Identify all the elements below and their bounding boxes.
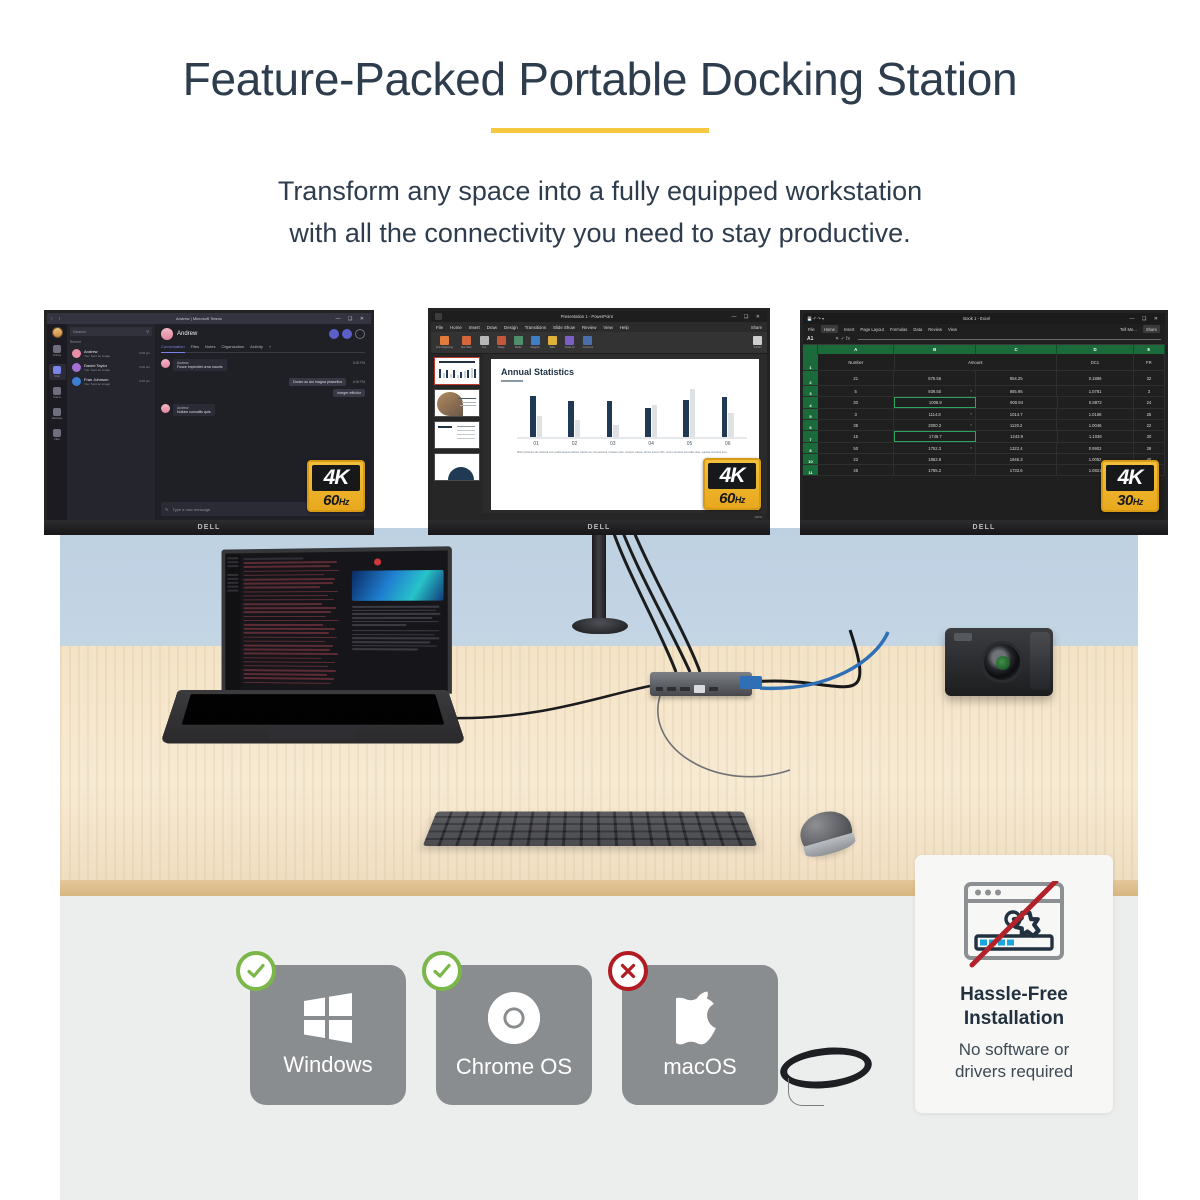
list-item[interactable]: Andrew You: Sent an image 6:06 pm (70, 346, 152, 360)
chat-time: 6:06 pm (139, 351, 150, 355)
ribbon-label: New Slide (461, 346, 472, 349)
table-row[interactable]: 4 30 1006.9 900.94 0.8872 24 (803, 397, 1165, 409)
bar-primary (530, 396, 536, 437)
bar-secondary (728, 413, 734, 437)
bar-primary (722, 397, 728, 437)
slide-caption: Morbi pharetra elit vehicula enim pellen… (517, 451, 747, 455)
search-placeholder: Search (73, 329, 86, 334)
teams-screen: ‹ › Andrew | Microsoft Teams — ❑ ✕ Activ… (44, 310, 374, 520)
install-title-line-2: Installation (960, 1007, 1068, 1031)
chat-time: 3:45 pm (139, 379, 150, 383)
camera-lens (981, 641, 1023, 683)
install-card-subtitle: No software or drivers required (955, 1039, 1073, 1085)
message-time: 6:00 PM (353, 378, 365, 384)
cell[interactable]: 24 (1134, 397, 1165, 408)
formula-icons[interactable]: ✕ ✓ fx (835, 336, 850, 342)
bar-group (555, 385, 593, 437)
os-label-chrome-os: Chrome OS (456, 1054, 572, 1080)
camera-flash (954, 633, 972, 641)
message-row: Andrew Fusce imperdiet urna mauris 6:00 … (161, 359, 365, 371)
message-row: Donec ac dui magna phasellus 6:00 PM (161, 378, 365, 386)
zoom-level: 100% (754, 515, 762, 519)
cell[interactable]: 900.94 (976, 397, 1057, 408)
hassle-free-installation-card: Hassle-Free Installation No software or … (915, 855, 1113, 1113)
screen-share-icon[interactable] (355, 329, 365, 339)
tab-organization[interactable]: Organization (221, 344, 244, 349)
conversation-contact-name: Andrew (177, 331, 197, 337)
cell[interactable]: 854.25 (976, 371, 1057, 385)
laptop-body-text (352, 606, 444, 651)
laptop-app-sidebar (225, 553, 240, 690)
media-icon (514, 336, 523, 345)
message-text: Donec ac dui magna phasellus (293, 380, 342, 384)
ppt-ribbon: From Beginning New Slide Text Shape Medi… (431, 332, 767, 354)
desktop-keyboard[interactable] (423, 811, 758, 846)
bar-secondary (537, 416, 543, 437)
bar-primary (683, 400, 689, 437)
cell[interactable]: 865.96 (976, 386, 1057, 396)
people-icon (53, 387, 61, 395)
row-header[interactable]: 2 (803, 371, 818, 385)
avatar (72, 349, 81, 358)
cell[interactable]: 1243.9 (976, 431, 1057, 442)
message-text: Fusce imperdiet urna mauris (177, 365, 223, 369)
tab-conversation[interactable]: Conversation (161, 344, 185, 353)
cell[interactable]: 3 (1134, 386, 1165, 396)
ppt-menubar: File Home Insert Draw Design Transitions… (431, 322, 767, 332)
install-title-line-1: Hassle-Free (960, 983, 1068, 1007)
badge-4k-30hz: 4K 30Hz (1101, 460, 1159, 512)
slide-thumbnail-pane (431, 354, 483, 513)
cell[interactable]: 1.0781 (1057, 386, 1133, 396)
share-button[interactable]: Share (751, 325, 762, 330)
tab-add[interactable]: + (269, 344, 271, 349)
os-compatibility-row: Windows Chrome OS macOS (250, 965, 778, 1105)
list-item[interactable]: Daniel Taylor You: Sent an image 4:00 pm (70, 360, 152, 374)
text-icon (480, 336, 489, 345)
row-header[interactable]: 4 (803, 397, 818, 408)
ribbon-label: Publish (754, 346, 762, 349)
cell[interactable]: 50 (818, 443, 894, 453)
menu-review[interactable]: Review (928, 327, 942, 332)
laptop-reading-pane (348, 550, 448, 693)
message-text: Nullam convallis quis (177, 410, 211, 414)
row-header[interactable]: 6 (803, 420, 818, 430)
page-subtitle: Transform any space into a fully equippe… (0, 171, 1200, 255)
chat-time: 4:00 pm (139, 365, 150, 369)
audio-call-icon[interactable] (342, 329, 352, 339)
avatar (161, 404, 170, 413)
apple-logo-icon (676, 990, 724, 1046)
tell-me-search[interactable]: Tell Me... (1120, 327, 1137, 332)
x-tick: 01 (517, 441, 555, 447)
cell[interactable]: 1785.2 (894, 465, 975, 475)
os-card-macos: macOS (622, 965, 778, 1105)
check-icon (422, 951, 462, 991)
ribbon-text[interactable]: Text (480, 336, 489, 349)
cell[interactable]: 30 (1134, 431, 1165, 442)
ribbon-shape[interactable]: Shape (497, 336, 506, 349)
menu-view[interactable]: View (603, 325, 612, 330)
docking-station (650, 672, 752, 696)
cell[interactable]: 3 (818, 409, 894, 419)
chat-bubble-icon (53, 366, 61, 374)
avatar (72, 377, 81, 386)
x-tick: 03 (594, 441, 632, 447)
select-all-corner[interactable] (803, 345, 818, 354)
ribbon-label: From Beginning (436, 346, 453, 349)
os-card-windows: Windows (250, 965, 406, 1105)
excel-screen: 💾 ↶ ↷ ▾ Book 1 - Excel — ❑ ✕ File Home I… (800, 310, 1168, 520)
bar-primary (568, 401, 574, 437)
conversation-header: Andrew (161, 328, 365, 340)
table-row[interactable]: 7 15 1746.7 1243.9 1.1036 30 (803, 431, 1165, 443)
chevron-down-icon: ▾ (970, 389, 972, 393)
cell[interactable]: 21 (818, 371, 894, 385)
slide-thumbnail[interactable] (434, 453, 480, 481)
menu-formulas[interactable]: Formulas (890, 327, 907, 332)
save-icon[interactable] (435, 313, 442, 320)
monitor-bezel-bottom: DELL (44, 520, 374, 535)
search-icon: ⚲ (146, 329, 149, 334)
chrome-logo-icon (486, 990, 542, 1046)
message-bubble: Donec ac dui magna phasellus (289, 378, 346, 386)
badge-resolution: 4K (1106, 465, 1154, 491)
cell[interactable]: DC1 (1057, 354, 1134, 370)
cell[interactable]: 35 (818, 420, 894, 430)
cell[interactable]: 1752.3▾ (894, 443, 975, 453)
subtitle-line-2: with all the connectivity you need to st… (0, 213, 1200, 255)
cell[interactable]: 25 (1134, 409, 1165, 419)
tab-notes[interactable]: Notes (205, 344, 215, 349)
menu-help[interactable]: Help (620, 325, 629, 330)
cell[interactable]: 1645.3 (976, 454, 1057, 464)
badge-4k-60hz: 4K 60Hz (307, 460, 365, 512)
bell-icon (53, 345, 61, 353)
chevron-down-icon: ▾ (970, 423, 972, 427)
table-row[interactable]: 2 21 875.56 854.25 0.1886 32 (803, 371, 1165, 386)
share-button[interactable]: Share (1143, 325, 1160, 333)
menu-file[interactable]: File (808, 327, 815, 332)
message-bubble: Andrew Nullam convallis quis (173, 404, 215, 416)
bar-group (632, 385, 670, 437)
ribbon-comment[interactable]: Comment (583, 336, 593, 349)
menu-draw[interactable]: Draw (487, 325, 497, 330)
subtitle-line-1: Transform any space into a fully equippe… (0, 171, 1200, 213)
ppt-window-title: Presentation 1 - PowerPoint (442, 314, 732, 319)
laptop (178, 548, 448, 770)
ribbon-smart-art[interactable]: Smart Art (565, 336, 575, 349)
badge-resolution: 4K (708, 463, 756, 489)
ribbon-label: Comment (583, 346, 593, 349)
monitor-stand-arm (592, 525, 606, 621)
monitor-bezel-bottom: DELL (800, 520, 1168, 535)
menu-view[interactable]: View (948, 327, 957, 332)
title-underline (491, 128, 709, 133)
excel-formula-bar: A1 ✕ ✓ fx (803, 334, 1165, 345)
monitor-left: ‹ › Andrew | Microsoft Teams — ❑ ✕ Activ… (44, 310, 374, 535)
column-headers: A B C D E (803, 345, 1165, 354)
row-header[interactable]: 5 (803, 409, 818, 419)
chevron-down-icon: ▾ (970, 412, 972, 416)
os-label-macos: macOS (663, 1054, 736, 1080)
cell[interactable]: 45 (818, 465, 894, 475)
monitor-center: Presentation 1 - PowerPoint — ❑ ✕ File H… (428, 308, 770, 535)
format-icon[interactable]: ✎ (165, 507, 168, 512)
bar-secondary (575, 420, 581, 437)
tab-files[interactable]: Files (191, 344, 199, 349)
x-tick: 05 (670, 441, 708, 447)
menu-file[interactable]: File (436, 325, 443, 330)
cell[interactable]: 22 (818, 454, 894, 464)
ppt-statusbar: 100% (431, 513, 767, 520)
avatar (161, 328, 173, 340)
formula-input[interactable] (858, 339, 1161, 340)
check-icon (236, 951, 276, 991)
cell[interactable]: 2000.3▾ (894, 420, 975, 430)
menu-transitions[interactable]: Transitions (525, 325, 546, 330)
ribbon-diagram[interactable]: Diagram (531, 336, 540, 349)
page-title: Feature-Packed Portable Docking Station (0, 52, 1200, 106)
x-tick: 02 (555, 441, 593, 447)
menu-insert[interactable]: Insert (469, 325, 480, 330)
cell[interactable]: 5 (818, 386, 894, 396)
ribbon-label: Media (515, 346, 522, 349)
column-header-a[interactable]: A (818, 345, 894, 354)
comment-icon (583, 336, 592, 345)
compose-placeholder: Type a new message (172, 507, 210, 512)
ribbon-label: Smart Art (565, 346, 575, 349)
rail-item-files[interactable]: Files (49, 427, 66, 443)
cell[interactable]: 1733.6 (976, 465, 1057, 475)
row-header[interactable]: 1 (803, 354, 818, 370)
excel-menubar: File Home Insert Page Layout Formulas Da… (803, 324, 1165, 334)
excel-window-title: Book 1 - Excel (828, 316, 1126, 321)
bar-secondary (652, 405, 658, 437)
avatar (72, 363, 81, 372)
cell[interactable]: 1.1036 (1058, 431, 1134, 442)
row-header[interactable]: 11 (803, 465, 818, 475)
install-card-title: Hassle-Free Installation (960, 983, 1068, 1031)
excel-titlebar: 💾 ↶ ↷ ▾ Book 1 - Excel — ❑ ✕ (803, 313, 1165, 324)
teams-search-input[interactable]: Search ⚲ (70, 327, 152, 336)
ppt-titlebar: Presentation 1 - PowerPoint — ❑ ✕ (431, 311, 767, 322)
ribbon-label: Text (482, 346, 486, 349)
row-header[interactable]: 8 (803, 443, 818, 453)
dell-logo: DELL (197, 524, 220, 531)
badge-refresh: 30Hz (1106, 491, 1154, 512)
bar-group (517, 385, 555, 437)
message-row: Andrew Nullam convallis quis (161, 404, 365, 416)
cell[interactable]: 1.0168 (1057, 409, 1133, 419)
badge-refresh: 60Hz (312, 491, 360, 512)
ribbon-new-slide[interactable]: New Slide (461, 336, 472, 349)
cell[interactable]: 1.0046 (1057, 420, 1133, 430)
row-header[interactable]: 3 (803, 386, 818, 396)
x-tick: 06 (709, 441, 747, 447)
teams-titlebar: ‹ › Andrew | Microsoft Teams — ❑ ✕ (47, 313, 371, 324)
chart-baseline (517, 437, 747, 439)
laptop-base (160, 690, 466, 743)
slide-thumbnail[interactable] (434, 421, 480, 449)
rail-label-chat: Chat (54, 375, 59, 378)
teams-user-avatar[interactable] (52, 327, 63, 338)
laptop-trackpad[interactable] (268, 726, 355, 740)
teams-window-controls[interactable]: — ❑ ✕ (336, 316, 367, 322)
badge-resolution: 4K (312, 465, 360, 491)
bar-group (709, 385, 747, 437)
camera-grip (1030, 632, 1050, 690)
chat-preview: You: Sent an image (84, 382, 136, 386)
video-call-icon[interactable] (329, 329, 339, 339)
menu-home[interactable]: Home (450, 325, 462, 330)
table-icon (548, 336, 557, 345)
ribbon-from-beginning[interactable]: From Beginning (436, 336, 453, 349)
chat-preview: You: Sent an image (84, 354, 136, 358)
record-indicator (374, 558, 381, 565)
row-header[interactable]: 7 (803, 431, 818, 442)
column-header-d[interactable]: D (1057, 345, 1133, 354)
headset-cable (788, 1078, 824, 1106)
table-row[interactable]: 3 5 939.50▾ 865.96 1.0781 3 (803, 386, 1165, 397)
cell[interactable]: 0.9902 (1057, 443, 1133, 453)
publish-icon (753, 336, 762, 345)
x-tick: 04 (632, 441, 670, 447)
cell[interactable]: 1120.2 (976, 420, 1057, 430)
dock-ports (656, 685, 718, 693)
cell[interactable]: 30 (818, 397, 894, 408)
cell[interactable]: 32 (1134, 371, 1165, 385)
cell[interactable]: Number (818, 354, 895, 370)
ethernet-connector (740, 676, 762, 689)
monitor-right: 💾 ↶ ↷ ▾ Book 1 - Excel — ❑ ✕ File Home I… (800, 310, 1168, 535)
cell[interactable]: Amount (895, 354, 1057, 370)
chart-x-ticks: 01 02 03 04 05 06 (517, 441, 747, 447)
excel-window-controls[interactable]: — ❑ ✕ (1130, 316, 1161, 322)
laptop-message-list (241, 552, 348, 692)
page-header: Feature-Packed Portable Docking Station … (0, 0, 1200, 255)
menu-data[interactable]: Data (913, 327, 922, 332)
conversation-tabs: Conversation Files Notes Organization Ac… (161, 344, 365, 353)
cell[interactable]: 1014.7 (976, 409, 1057, 419)
menu-insert[interactable]: Insert (844, 327, 854, 332)
chat-preview: You: Sent an image (84, 368, 136, 372)
chart-icon (531, 336, 540, 345)
bar-group (670, 385, 708, 437)
ribbon-table[interactable]: Table (548, 336, 557, 349)
bar-secondary (690, 389, 696, 437)
cell-selected[interactable]: 1746.7 (894, 431, 976, 442)
table-row[interactable]: 6 35 2000.3▾ 1120.2 1.0046 22 (803, 420, 1165, 431)
rail-label-meetings: Meetings (52, 417, 63, 420)
menu-review[interactable]: Review (582, 325, 596, 330)
table-row[interactable]: 8 50 1752.3▾ 1322.4 0.9902 28 (803, 443, 1165, 454)
rail-item-chat[interactable]: Chat (49, 364, 66, 380)
bar-primary (645, 408, 651, 437)
rail-item-meetings[interactable]: Meetings (49, 406, 66, 422)
cell-selected[interactable]: 1006.9 (894, 397, 976, 408)
monitor-bezel-bottom: DELL (428, 520, 770, 535)
cell[interactable]: 0.8872 (1058, 397, 1134, 408)
menu-design[interactable]: Design (504, 325, 518, 330)
cell[interactable]: FR (1134, 354, 1165, 370)
ribbon-label: Shape (498, 346, 505, 349)
bar-secondary (613, 425, 619, 437)
smartart-icon (565, 336, 574, 345)
cell[interactable]: 1322.4 (976, 443, 1057, 453)
cell[interactable]: 875.56 (894, 371, 975, 385)
table-row[interactable]: 5 3 1114.8▾ 1014.7 1.0168 25 (803, 409, 1165, 420)
cell[interactable]: 28 (1134, 443, 1165, 453)
ribbon-media[interactable]: Media (514, 336, 523, 349)
column-header-b[interactable]: B (894, 345, 975, 354)
name-box[interactable]: A1 (807, 336, 831, 342)
message-time: 6:00 PM (353, 359, 365, 365)
cell[interactable]: 1114.8▾ (894, 409, 975, 419)
bar-chart (517, 385, 747, 437)
cell[interactable]: 22 (1134, 420, 1165, 430)
chevron-down-icon: ▾ (970, 446, 972, 450)
message-text: Integer efficitur (337, 391, 361, 395)
menu-slide-show[interactable]: Slide Show (553, 325, 575, 330)
rail-item-activity[interactable]: Activity (49, 343, 66, 359)
column-header-c[interactable]: C (976, 345, 1057, 354)
cell[interactable]: 15 (818, 431, 894, 442)
teams-window-title: Andrew | Microsoft Teams (62, 316, 335, 321)
message-bubble: Andrew Fusce imperdiet urna mauris (173, 359, 227, 371)
cell[interactable]: 0.1886 (1057, 371, 1133, 385)
recent-label: Recent (70, 340, 152, 344)
column-header-e[interactable]: E (1134, 345, 1165, 354)
ribbon-label: Diagram (531, 346, 540, 349)
install-sub-line-2: drivers required (955, 1061, 1073, 1084)
tab-activity[interactable]: Activity (250, 344, 263, 349)
ribbon-label: Table (549, 346, 555, 349)
teams-nav-back[interactable]: ‹ (51, 316, 55, 322)
laptop-screen (225, 550, 447, 693)
slide-thumbnail[interactable] (434, 357, 480, 385)
table-row[interactable]: 1 Number Amount DC1 FR (803, 354, 1165, 371)
files-icon (53, 429, 61, 437)
os-card-chrome-os: Chrome OS (436, 965, 592, 1105)
quick-access-toolbar[interactable]: 💾 ↶ ↷ ▾ (807, 316, 824, 321)
ribbon-publish[interactable]: Publish (753, 336, 762, 349)
menu-home[interactable]: Home (821, 325, 838, 333)
cell[interactable]: 939.50▾ (894, 386, 975, 396)
monitor-stand-base (572, 618, 628, 634)
list-item[interactable]: Fran Johnson You: Sent an image 3:45 pm (70, 374, 152, 388)
play-icon (440, 336, 449, 345)
rail-label-files: Files (54, 438, 59, 441)
teams-app-rail: Activity Chat Teams Meetings (47, 324, 67, 520)
cell[interactable]: 1863.8 (894, 454, 975, 464)
digital-camera (945, 628, 1053, 696)
slide-thumbnail[interactable] (434, 389, 480, 417)
rail-item-teams[interactable]: Teams (49, 385, 66, 401)
menu-page-layout[interactable]: Page Layout (860, 327, 884, 332)
slide-title: Annual Statistics (501, 367, 749, 377)
laptop-keyboard[interactable] (182, 694, 445, 724)
shape-icon (497, 336, 506, 345)
avatar (161, 359, 170, 368)
bar-primary (607, 401, 613, 437)
cross-icon (608, 951, 648, 991)
laptop-lid (222, 546, 452, 693)
dell-logo: DELL (972, 524, 995, 531)
row-header[interactable]: 10 (803, 454, 818, 464)
slide-title-rule (501, 380, 523, 382)
ppt-window-controls[interactable]: — ❑ ✕ (732, 314, 763, 320)
